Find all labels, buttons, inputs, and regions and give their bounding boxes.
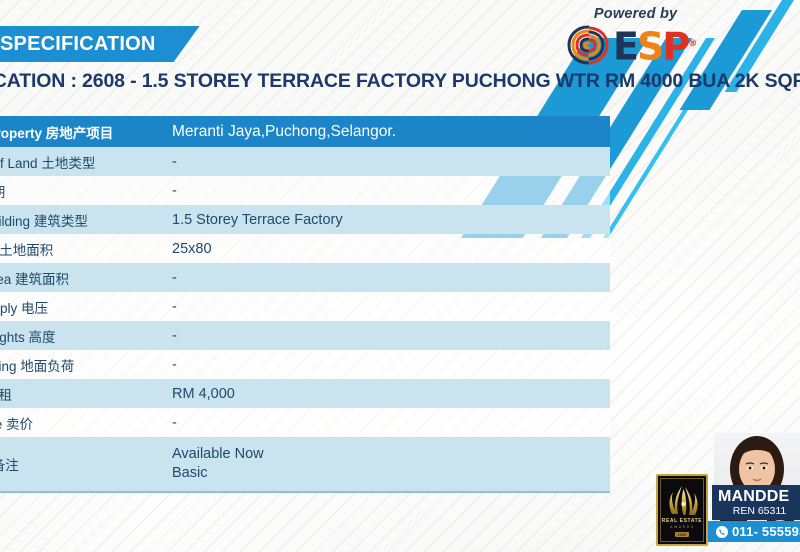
esp-letter-s: S [637,24,662,68]
table-row: Sales Price 卖价 - [0,408,610,437]
esp-letter-e: E [613,24,637,68]
table-header-label: Subject Property 房地产项目 [0,122,170,142]
row-value: - [170,154,610,170]
row-value: RM 4,000 [170,386,610,402]
page-title: LOCATION : 2608 - 1.5 STOREY TERRACE FAC… [0,70,800,93]
row-label: Floor Loading 地面负荷 [0,355,170,375]
table-row: 年限 占有期 - [0,176,610,205]
table-header-row: Subject Property 房地产项目 Meranti Jaya,Puch… [0,116,610,147]
powered-by-label: Powered by [576,6,695,22]
agent-name: MANDDE [718,488,800,505]
table-row: Type of Building 建筑类型 1.5 Storey Terrace… [0,205,610,234]
flame-emblem-icon [664,484,700,518]
row-value: - [170,183,610,199]
table-bottom-rule [0,491,610,493]
row-value: Available Now Basic [170,445,610,483]
row-label: Category of Land 土地类型 [0,152,170,172]
fingerprint-icon [566,23,610,67]
table-row: Land Area 土地面积 25x80 [0,234,610,263]
row-label: Power Supply 电压 [0,297,170,317]
table-row: Floor Loading 地面负荷 - [0,350,610,379]
registered-mark: ® [688,39,695,49]
table-row: Built-up Area 建筑面积 - [0,263,610,292]
badge-year: 2023 [675,532,690,537]
agent-phone-bar[interactable]: 011- 555593 [708,521,800,542]
agent-card: REAL ESTATE A W A R D S 2023 MANDDE REN … [650,460,800,552]
esp-logo: Powered by [566,6,695,67]
agent-name-plate: MANDDE REN 65311 [712,485,800,520]
banner-label: SPECIFICATION [0,33,156,56]
row-label: Monthly 月租 [0,384,170,404]
agent-ren-number: REN 65311 [718,505,800,517]
table-row: Remarks 备注 Available Now Basic [0,437,610,491]
table-header-value: Meranti Jaya,Puchong,Selangor. [170,123,610,141]
table-row: Category of Land 土地类型 - [0,147,610,176]
row-value: - [170,357,610,373]
table-row: Power Supply 电压 - [0,292,610,321]
phone-icon [716,526,728,538]
badge-title: REAL ESTATE [662,518,703,525]
row-label: Ceiling Heights 高度 [0,326,170,346]
badge-subtitle: A W A R D S [670,525,693,530]
award-badge: REAL ESTATE A W A R D S 2023 [656,474,708,546]
agent-phone-number: 011- 555593 [732,524,800,539]
row-label: Land Area 土地面积 [0,239,170,259]
poster-canvas: SPECIFICATION LOCATION : 2608 - 1.5 STOR… [0,0,800,552]
table-row: Ceiling Heights 高度 - [0,321,610,350]
row-label: Built-up Area 建筑面积 [0,268,170,288]
row-value: - [170,415,610,431]
row-label: Sales Price 卖价 [0,413,170,433]
specification-table: Subject Property 房地产项目 Meranti Jaya,Puch… [0,116,610,493]
row-value: 25x80 [170,241,610,257]
row-value: - [170,270,610,286]
row-value: - [170,328,610,344]
specification-banner: SPECIFICATION [0,26,200,62]
row-label: Remarks 备注 [0,454,170,474]
esp-letter-p: P [662,24,688,68]
row-label: Type of Building 建筑类型 [0,210,170,230]
row-value: 1.5 Storey Terrace Factory [170,212,610,228]
row-label: 年限 占有期 [0,181,170,201]
row-value: - [170,299,610,315]
table-row: Monthly 月租 RM 4,000 [0,379,610,408]
